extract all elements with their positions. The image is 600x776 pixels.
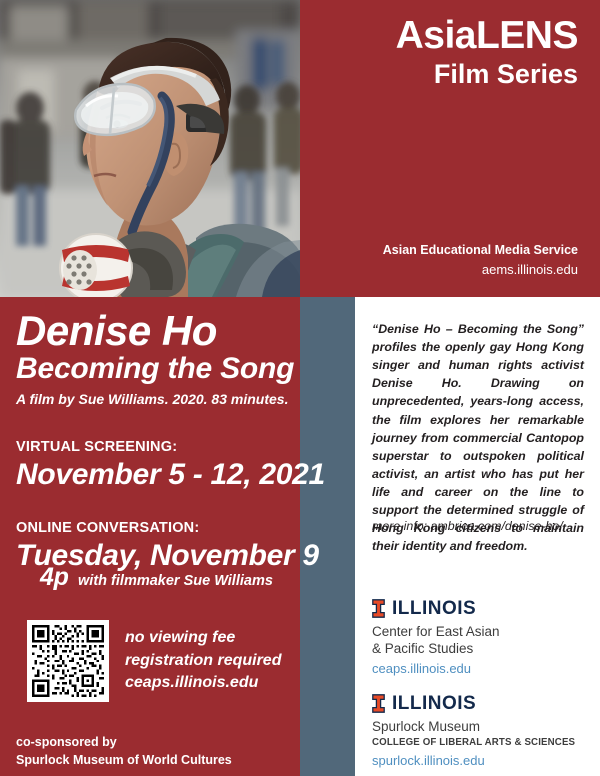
illinois-wordmark: ILLINOIS: [372, 599, 500, 618]
film-subtitle: Becoming the Song: [16, 352, 294, 386]
qr-code-icon: [32, 625, 104, 697]
more-info-link[interactable]: more info: ambrica.com/denise-ho/: [372, 519, 592, 533]
organization-name: Asian Educational Media Service: [383, 241, 578, 260]
series-name: AsiaLENS: [396, 16, 578, 57]
online-conversation-time: 4p: [40, 563, 69, 591]
poster: AsiaLENS Film Series Asian Educational M…: [0, 0, 600, 776]
sponsor-url[interactable]: spurlock.illinois.edu: [372, 753, 575, 770]
online-conversation-time-row: 4p with filmmaker Sue Williams: [40, 563, 273, 592]
virtual-screening-dates: November 5 - 12, 2021: [16, 458, 325, 493]
sponsor-college-name: COLLEGE OF LIBERAL ARTS & SCIENCES: [372, 737, 575, 750]
series-subtitle: Film Series: [396, 59, 578, 90]
registration-url[interactable]: ceaps.illinois.edu: [125, 672, 281, 695]
film-title-block: Denise Ho Becoming the Song A film by Su…: [16, 308, 294, 408]
registration-requirement: registration required: [125, 650, 281, 673]
cosponsor-block: co-sponsored by Spurlock Museum of World…: [16, 733, 232, 769]
illinois-wordmark-text: ILLINOIS: [392, 694, 476, 713]
illinois-wordmark: ILLINOIS: [372, 694, 575, 713]
registration-row: no viewing fee registration required cea…: [27, 620, 281, 702]
sponsor-logo-spurlock: ILLINOIS Spurlock Museum COLLEGE OF LIBE…: [372, 694, 575, 770]
qr-code[interactable]: [27, 620, 109, 702]
cosponsor-name: Spurlock Museum of World Cultures: [16, 751, 232, 769]
illinois-block-i-icon: [372, 694, 385, 713]
organization-credit: Asian Educational Media Service aems.ill…: [383, 241, 578, 279]
virtual-screening-block: VIRTUAL SCREENING: November 5 - 12, 2021: [16, 438, 325, 492]
online-conversation-host: with filmmaker Sue Williams: [78, 573, 273, 589]
sponsor-url[interactable]: ceaps.illinois.edu: [372, 661, 500, 678]
sponsor-unit-name: Spurlock Museum: [372, 718, 575, 735]
film-credit: A film by Sue Williams. 2020. 83 minutes…: [16, 390, 294, 408]
illinois-wordmark-text: ILLINOIS: [392, 599, 476, 618]
registration-text: no viewing fee registration required cea…: [125, 627, 281, 695]
organization-url[interactable]: aems.illinois.edu: [383, 260, 578, 280]
film-title: Denise Ho: [16, 308, 294, 353]
sponsor-unit-name: Center for East Asian & Pacific Studies: [372, 623, 500, 658]
series-branding: AsiaLENS Film Series: [396, 16, 578, 90]
virtual-screening-label: VIRTUAL SCREENING:: [16, 438, 325, 458]
registration-fee-note: no viewing fee: [125, 627, 281, 650]
film-still-image: [0, 0, 300, 297]
online-conversation-label: ONLINE CONVERSATION:: [16, 519, 319, 539]
film-still-photo: [0, 0, 300, 297]
cosponsor-label: co-sponsored by: [16, 733, 232, 751]
sponsor-logo-ceaps: ILLINOIS Center for East Asian & Pacific…: [372, 599, 500, 677]
illinois-block-i-icon: [372, 599, 385, 618]
